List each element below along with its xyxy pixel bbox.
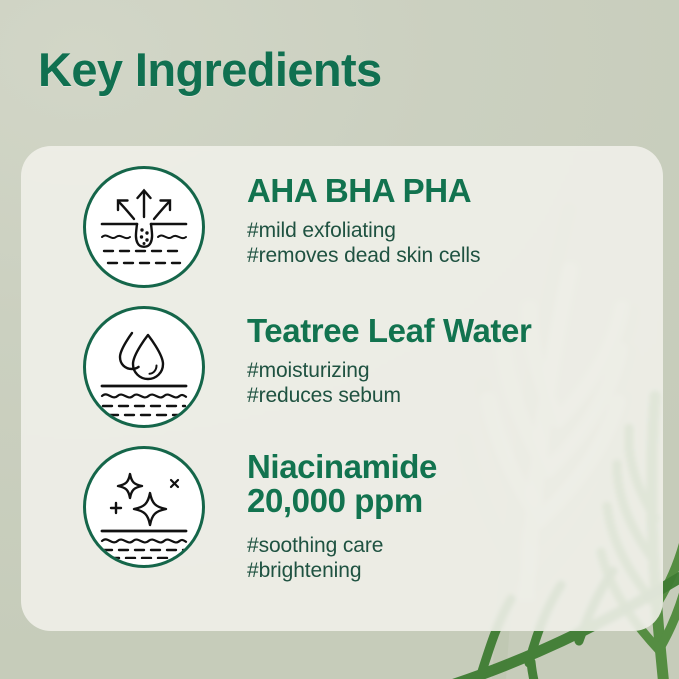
ingredient-tags: #soothing care #brightening [247,534,437,584]
ingredient-row: Teatree Leaf Water #moisturizing #reduce… [83,306,531,428]
ingredient-name: AHA BHA PHA [247,174,480,208]
key-ingredients-poster: Key Ingredients [0,0,679,679]
ingredient-name: Niacinamide [247,450,437,484]
ingredient-tag: #moisturizing [247,359,531,384]
ingredient-tag: #removes dead skin cells [247,244,480,269]
pore-exfoliation-glyph [92,175,196,279]
ingredients-card: AHA BHA PHA #mild exfoliating #removes d… [21,146,663,631]
water-droplets-glyph [92,315,196,419]
ingredient-row: Niacinamide 20,000 ppm #soothing care #b… [83,446,437,584]
ingredient-tag: #brightening [247,559,437,584]
sparkles-skin-glyph [92,455,196,559]
ingredient-text: AHA BHA PHA #mild exfoliating #removes d… [247,166,480,269]
sparkles-skin-icon [83,446,205,568]
ingredient-name: Teatree Leaf Water [247,314,531,348]
ingredient-name-line2: 20,000 ppm [247,484,437,518]
ingredient-tag: #reduces sebum [247,384,531,409]
ingredient-text: Niacinamide 20,000 ppm #soothing care #b… [247,446,437,584]
ingredient-row: AHA BHA PHA #mild exfoliating #removes d… [83,166,480,288]
ingredient-tag: #mild exfoliating [247,219,480,244]
ingredient-text: Teatree Leaf Water #moisturizing #reduce… [247,306,531,409]
pore-exfoliation-icon [83,166,205,288]
page-title: Key Ingredients [38,42,382,97]
water-droplets-icon [83,306,205,428]
ingredient-tag: #soothing care [247,534,437,559]
ingredient-tags: #moisturizing #reduces sebum [247,359,531,409]
ingredient-tags: #mild exfoliating #removes dead skin cel… [247,219,480,269]
